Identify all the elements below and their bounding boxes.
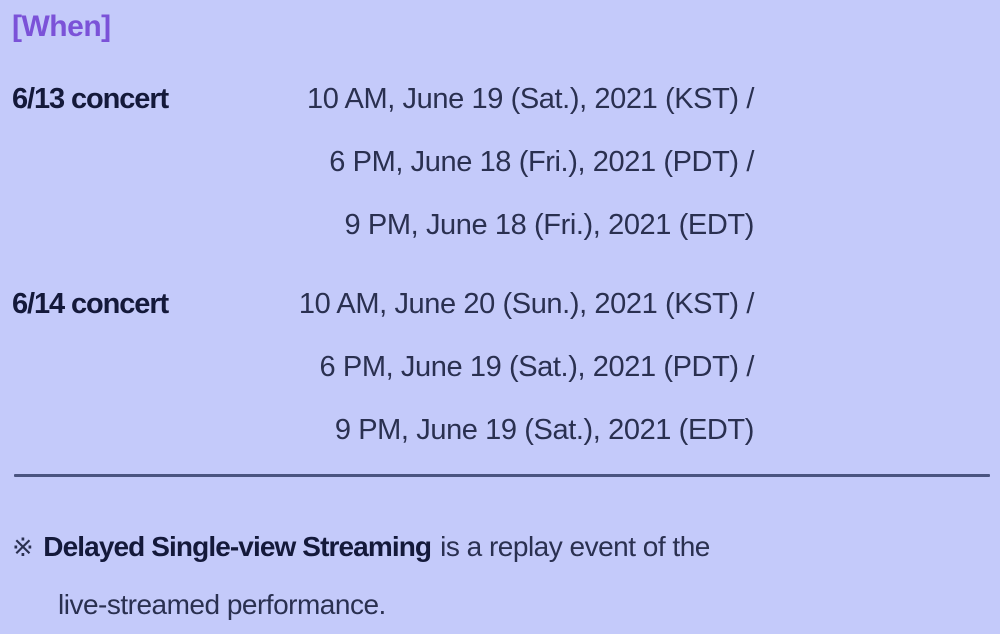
footnote-term: Delayed Single-view Streaming — [43, 518, 431, 576]
schedule-time-line: 6 PM, June 18 (Fri.), 2021 (PDT) / — [230, 131, 754, 194]
schedule-time-line: 10 AM, June 20 (Sun.), 2021 (KST) / — [230, 273, 754, 336]
footnote-description-cont: live-streamed performance. — [58, 576, 386, 634]
section-divider — [14, 474, 990, 477]
schedule-times-614: 10 AM, June 20 (Sun.), 2021 (KST) / 6 PM… — [230, 273, 756, 462]
notice-page: [When] 6/13 concert 10 AM, June 19 (Sat.… — [0, 0, 1000, 633]
section-heading-when: [When] — [12, 12, 111, 42]
schedule-times-613: 10 AM, June 19 (Sat.), 2021 (KST) / 6 PM… — [230, 68, 756, 257]
schedule-row: 6/14 concert 10 AM, June 20 (Sun.), 2021… — [12, 273, 988, 462]
schedule-time-line: 10 AM, June 19 (Sat.), 2021 (KST) / — [230, 68, 754, 131]
reference-mark-icon: ※ — [12, 518, 33, 576]
footnote-first-line: ※ Delayed Single-view Streaming is a rep… — [12, 518, 972, 576]
footnote-second-line: live-streamed performance. — [12, 576, 972, 634]
footnote-block: ※ Delayed Single-view Streaming is a rep… — [12, 518, 972, 634]
schedule-time-line: 9 PM, June 18 (Fri.), 2021 (EDT) — [230, 194, 754, 257]
schedule-time-line: 9 PM, June 19 (Sat.), 2021 (EDT) — [230, 399, 754, 462]
schedule-list: 6/13 concert 10 AM, June 19 (Sat.), 2021… — [12, 68, 988, 462]
footnote-description: is a replay event of the — [440, 518, 710, 576]
schedule-time-line: 6 PM, June 19 (Sat.), 2021 (PDT) / — [230, 336, 754, 399]
schedule-label-613: 6/13 concert — [12, 68, 230, 131]
schedule-label-614: 6/14 concert — [12, 273, 230, 336]
schedule-row: 6/13 concert 10 AM, June 19 (Sat.), 2021… — [12, 68, 988, 257]
